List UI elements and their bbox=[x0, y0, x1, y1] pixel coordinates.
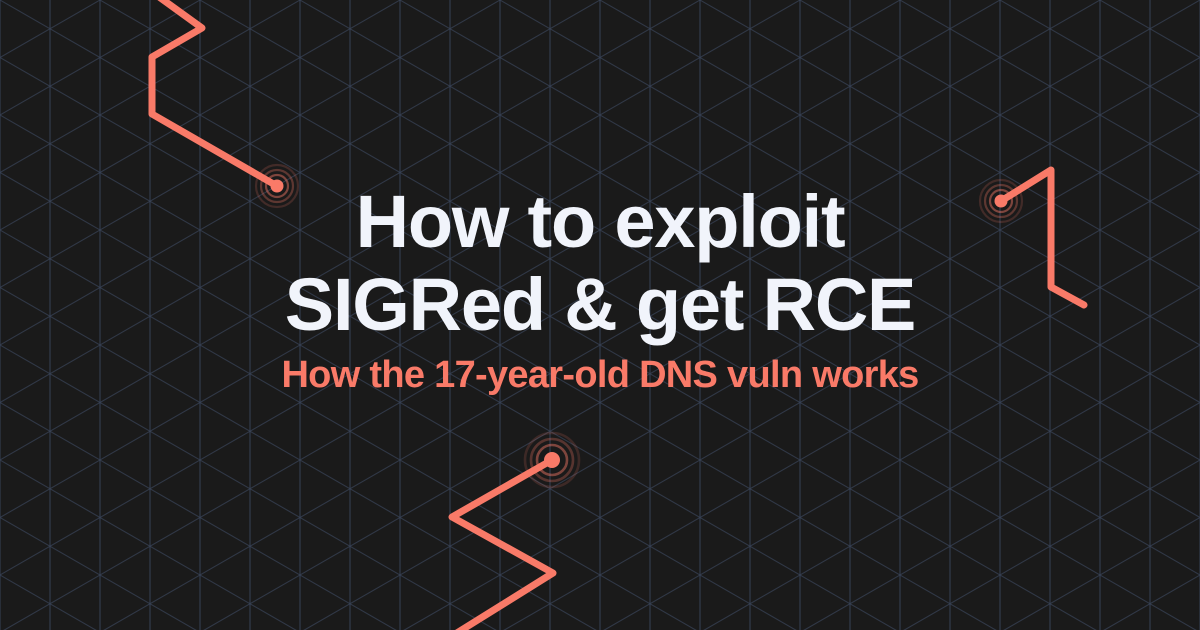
headline-block: How to exploit SIGRed & get RCE How the … bbox=[0, 180, 1200, 398]
headline-line-1: How to exploit bbox=[40, 180, 1160, 263]
subtitle: How the 17-year-old DNS vuln works bbox=[40, 352, 1160, 398]
node-dot bbox=[544, 452, 560, 468]
top-left-polyline bbox=[152, 0, 277, 186]
bottom-center-polyline bbox=[452, 460, 553, 630]
headline-line-2: SIGRed & get RCE bbox=[40, 263, 1160, 346]
node-bottom-center bbox=[525, 433, 579, 487]
social-card: How to exploit SIGRed & get RCE How the … bbox=[0, 0, 1200, 630]
